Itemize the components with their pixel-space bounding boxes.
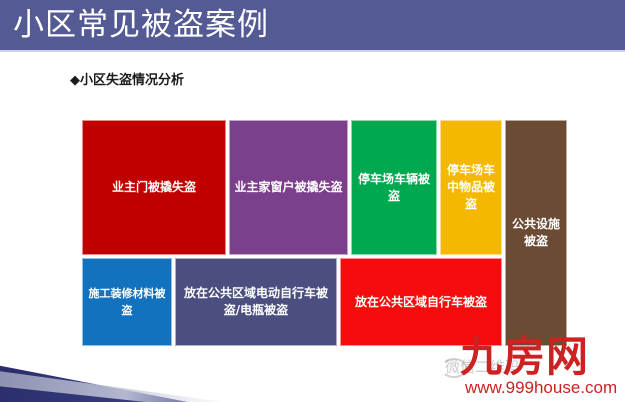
category-label: 公共设施被盗 xyxy=(510,216,562,250)
brand-url-text: www.999house.com xyxy=(465,378,617,398)
slide-title-bar: 小区常见被盗案例 xyxy=(0,0,625,50)
brand-logo-text: 九房网 xyxy=(460,334,589,380)
category-label: 停车场车中物品被盗 xyxy=(445,162,497,213)
category-block-public-facilities[interactable]: 公共设施被盗 xyxy=(505,120,567,346)
category-label: 停车场车辆被盗 xyxy=(356,171,432,205)
category-label: 施工装修材料被盗 xyxy=(87,285,167,319)
category-block-construction-materials[interactable]: 施工装修材料被盗 xyxy=(82,258,172,346)
category-label: 业主家窗户被撬失盗 xyxy=(234,179,343,196)
title-underline xyxy=(0,50,625,52)
watermark: 微信二维码 九房网 www.999house.com xyxy=(455,334,623,400)
category-block-public-ebike[interactable]: 放在公共区域电动自行车被盗/电瓶被盗 xyxy=(175,258,337,346)
category-label: 放在公共区域自行车被盗 xyxy=(345,294,497,311)
section-subtitle: ◆小区失盗情况分析 xyxy=(70,72,184,90)
category-block-owner-window[interactable]: 业主家窗户被撬失盗 xyxy=(229,120,348,255)
page-title: 小区常见被盗案例 xyxy=(13,3,269,47)
category-block-parking-vehicle[interactable]: 停车场车辆被盗 xyxy=(351,120,437,255)
category-block-parking-incar-items[interactable]: 停车场车中物品被盗 xyxy=(440,120,502,255)
category-label: 放在公共区域电动自行车被盗/电瓶被盗 xyxy=(180,285,332,319)
slide-canvas: 小区常见被盗案例 ◆小区失盗情况分析 业主门被撬失盗 业主家窗户被撬失盗 停车场… xyxy=(0,0,625,402)
category-block-owner-door[interactable]: 业主门被撬失盗 xyxy=(82,120,226,255)
category-label: 业主门被撬失盗 xyxy=(87,179,221,196)
